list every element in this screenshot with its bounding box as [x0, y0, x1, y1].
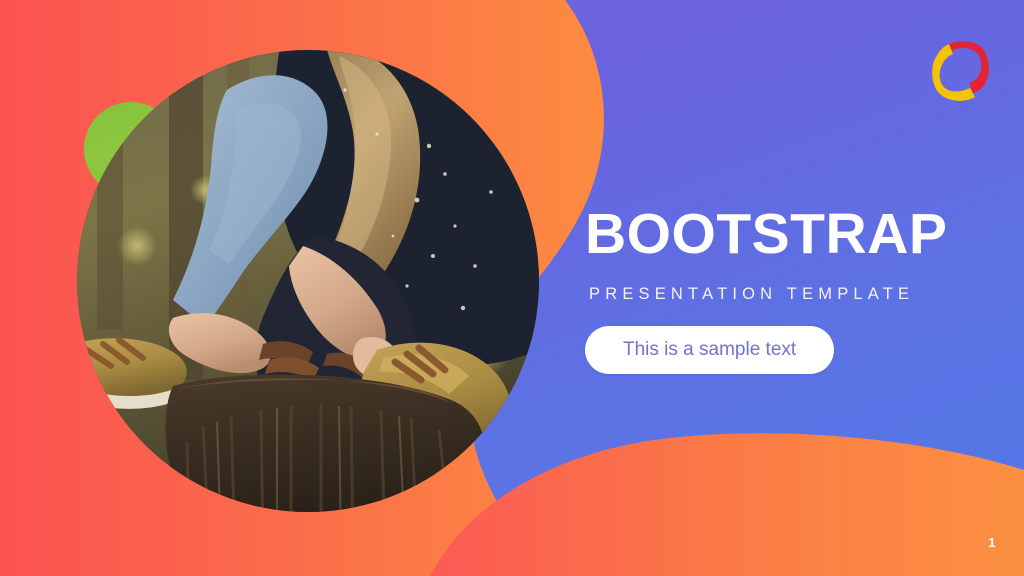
- presentation-slide: BOOTSTRAP PRESENTATION TEMPLATE This is …: [0, 0, 1024, 576]
- page-number: 1: [988, 535, 996, 550]
- page-subtitle: PRESENTATION TEMPLATE: [589, 285, 985, 304]
- sample-text-button[interactable]: This is a sample text: [585, 326, 834, 374]
- brand-logo[interactable]: [928, 34, 996, 102]
- page-title: BOOTSTRAP: [585, 206, 985, 263]
- hero-photo-circle: [77, 50, 539, 512]
- title-block: BOOTSTRAP PRESENTATION TEMPLATE This is …: [585, 206, 985, 374]
